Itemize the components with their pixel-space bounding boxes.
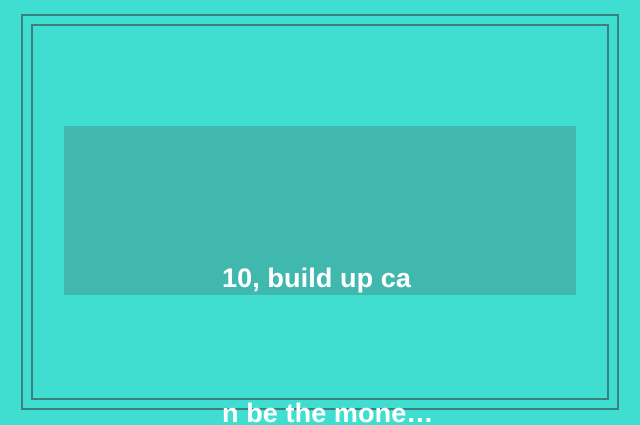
- caption-line-2: n be the mone…: [222, 391, 422, 425]
- caption-text-block: 10, build up ca n be the mone…: [222, 166, 422, 425]
- caption-line-1: 10, build up ca: [222, 256, 422, 301]
- screenshot-canvas: 10, build up ca n be the mone…: [0, 0, 640, 425]
